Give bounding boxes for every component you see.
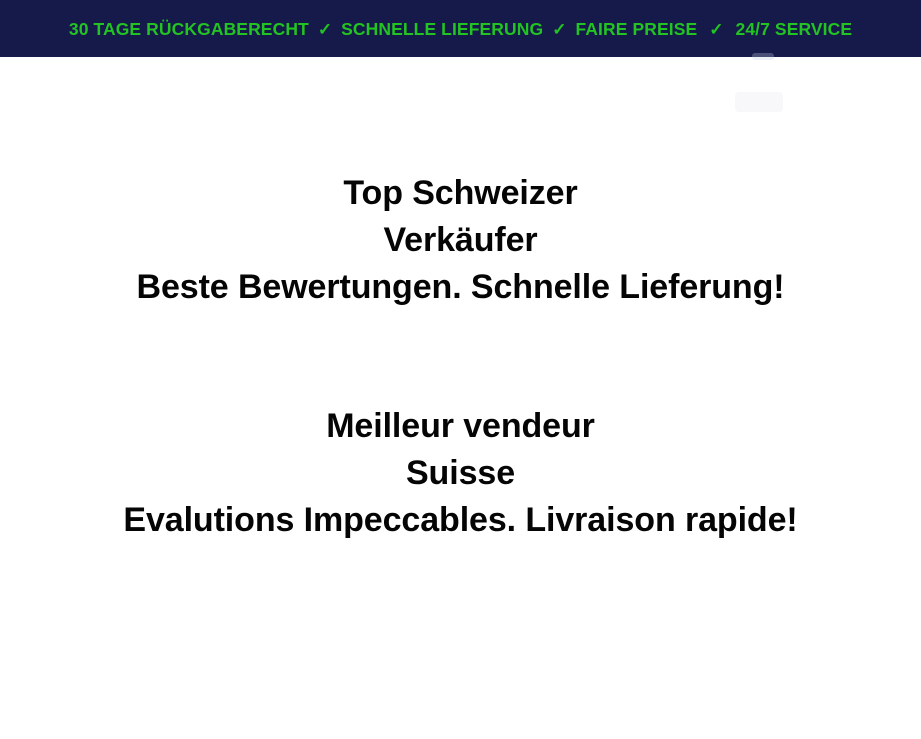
service-item-support: 24/7 SERVICE: [736, 21, 853, 39]
promo-german-line-1: Top Schweizer: [0, 170, 921, 217]
promo-french-line-1: Meilleur vendeur: [0, 403, 921, 450]
promo-french-line-3: Evalutions Impeccables. Livraison rapide…: [0, 497, 921, 544]
check-icon: ✓: [697, 21, 735, 38]
promo-content: Top Schweizer Verkäufer Beste Bewertunge…: [0, 57, 921, 739]
promo-block-french: Meilleur vendeur Suisse Evalutions Impec…: [0, 403, 921, 544]
promo-french-line-2: Suisse: [0, 450, 921, 497]
service-item-return-policy: 30 TAGE RÜCKGABERECHT: [69, 21, 309, 39]
check-icon: ✓: [309, 21, 341, 38]
promo-block-german: Top Schweizer Verkäufer Beste Bewertunge…: [0, 170, 921, 311]
check-icon: ✓: [543, 21, 575, 38]
service-item-fast-delivery: SCHNELLE LIEFERUNG: [341, 21, 543, 39]
service-banner-items: 30 TAGE RÜCKGABERECHT ✓ SCHNELLE LIEFERU…: [69, 19, 852, 39]
promo-german-line-3: Beste Bewertungen. Schnelle Lieferung!: [0, 264, 921, 311]
service-banner: 30 TAGE RÜCKGABERECHT ✓ SCHNELLE LIEFERU…: [0, 0, 921, 57]
promo-german-line-2: Verkäufer: [0, 217, 921, 264]
service-item-fair-prices: FAIRE PREISE: [575, 21, 697, 39]
